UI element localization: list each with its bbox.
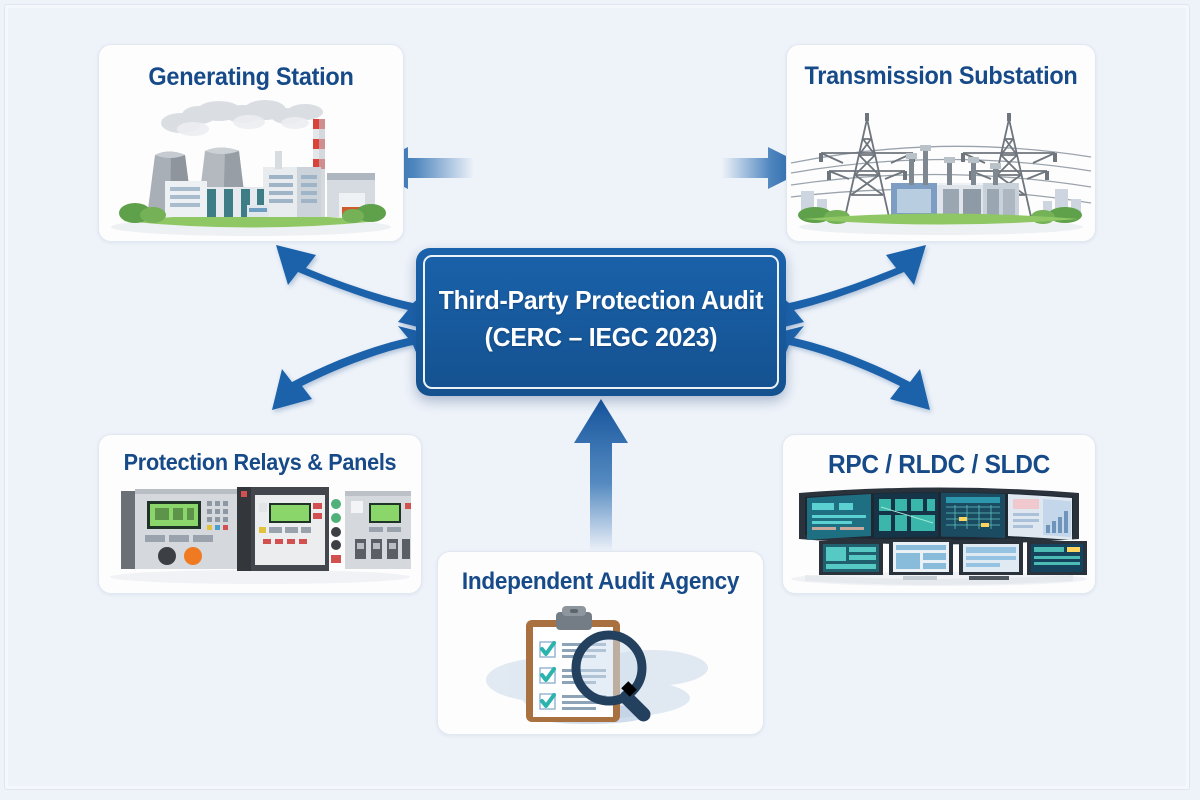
connector-center-to-protection-relays xyxy=(272,326,438,410)
node-rpc-rldc-sldc-label: RPC / RLDC / SLDC xyxy=(792,449,1085,480)
node-protection-relays-panels-label: Protection Relays & Panels xyxy=(109,449,412,476)
node-rpc-rldc-sldc[interactable]: RPC / RLDC / SLDC xyxy=(782,434,1096,594)
center-node-label: Third-Party Protection Audit (CERC – IEG… xyxy=(425,282,777,356)
node-generating-station[interactable]: Generating Station xyxy=(98,44,404,242)
clipboard-magnifier-illustration xyxy=(438,598,763,732)
control-room-illustration xyxy=(783,477,1095,589)
node-transmission-substation[interactable]: Transmission Substation xyxy=(786,44,1096,242)
center-node-line2: (CERC – IEGC 2023) xyxy=(425,319,777,356)
node-generating-station-label: Generating Station xyxy=(108,63,394,92)
node-independent-audit-agency-label: Independent Audit Agency xyxy=(448,568,754,596)
center-node-line1: Third-Party Protection Audit xyxy=(425,282,777,319)
connector-center-to-rpc-rldc-sldc xyxy=(764,326,930,410)
connector-center-to-generating-station xyxy=(276,245,438,332)
center-node-third-party-protection-audit[interactable]: Third-Party Protection Audit (CERC – IEG… xyxy=(416,248,786,396)
relay-panels-illustration xyxy=(99,477,421,589)
diagram-canvas: Third-Party Protection Audit (CERC – IEG… xyxy=(0,0,1200,800)
node-protection-relays-panels[interactable]: Protection Relays & Panels xyxy=(98,434,422,594)
power-plant-illustration xyxy=(99,89,403,239)
connector-center-to-transmission-substation xyxy=(764,245,926,332)
connector-audit-agency-to-center xyxy=(574,399,628,552)
substation-illustration xyxy=(787,87,1095,239)
node-independent-audit-agency[interactable]: Independent Audit Agency xyxy=(437,551,764,735)
